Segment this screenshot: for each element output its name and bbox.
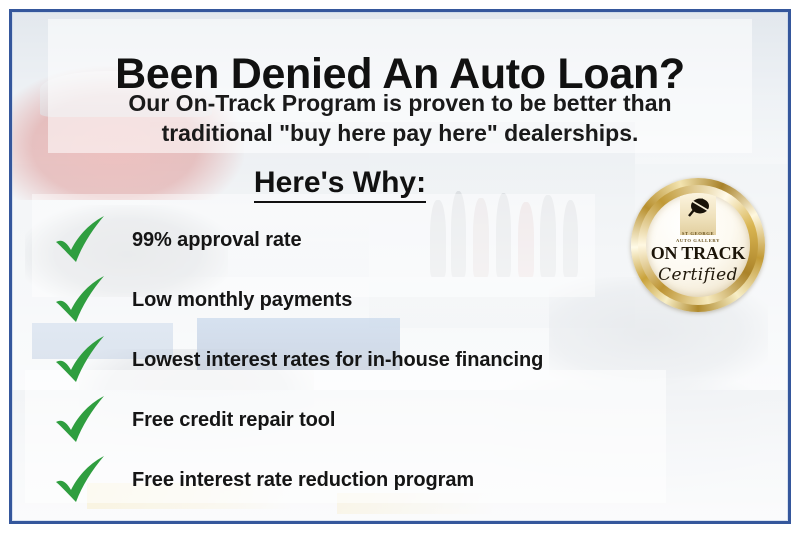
benefits-list: 99% approval rate Low monthly payments L… [52,210,652,510]
seal-certified-text: Certified [646,265,750,285]
subheadline-line-1: Our On-Track Program is proven to be bet… [0,88,800,118]
dealership-logo-icon [683,197,713,219]
check-icon [52,212,110,268]
subheadline-line-2: traditional "buy here pay here" dealersh… [0,118,800,148]
list-item-label: Lowest interest rates for in-house finan… [132,349,543,372]
section-heading-label: Here's Why: [254,166,426,203]
list-item: Free interest rate reduction program [52,450,652,510]
list-item-label: 99% approval rate [132,229,302,252]
seal-main-text: ON TRACK [646,243,750,264]
check-icon [52,452,110,508]
list-item: 99% approval rate [52,210,652,270]
list-item: Free credit repair tool [52,390,652,450]
check-icon [52,392,110,448]
banner-content: Been Denied An Auto Loan? Our On-Track P… [0,0,800,533]
seal-face: ST GEORGE AUTO GALLERY ON TRACK Certifie… [646,193,750,297]
list-item: Low monthly payments [52,270,652,330]
check-icon [52,332,110,388]
list-item-label: Low monthly payments [132,289,352,312]
subheadline: Our On-Track Program is proven to be bet… [0,88,800,149]
auto-loan-ad-banner: Been Denied An Auto Loan? Our On-Track P… [0,0,800,533]
list-item-label: Free interest rate reduction program [132,469,474,492]
on-track-certified-seal: ST GEORGE AUTO GALLERY ON TRACK Certifie… [631,178,765,312]
list-item-label: Free credit repair tool [132,409,335,432]
list-item: Lowest interest rates for in-house finan… [52,330,652,390]
seal-dealership-name-line-1: ST GEORGE [646,231,750,238]
check-icon [52,272,110,328]
